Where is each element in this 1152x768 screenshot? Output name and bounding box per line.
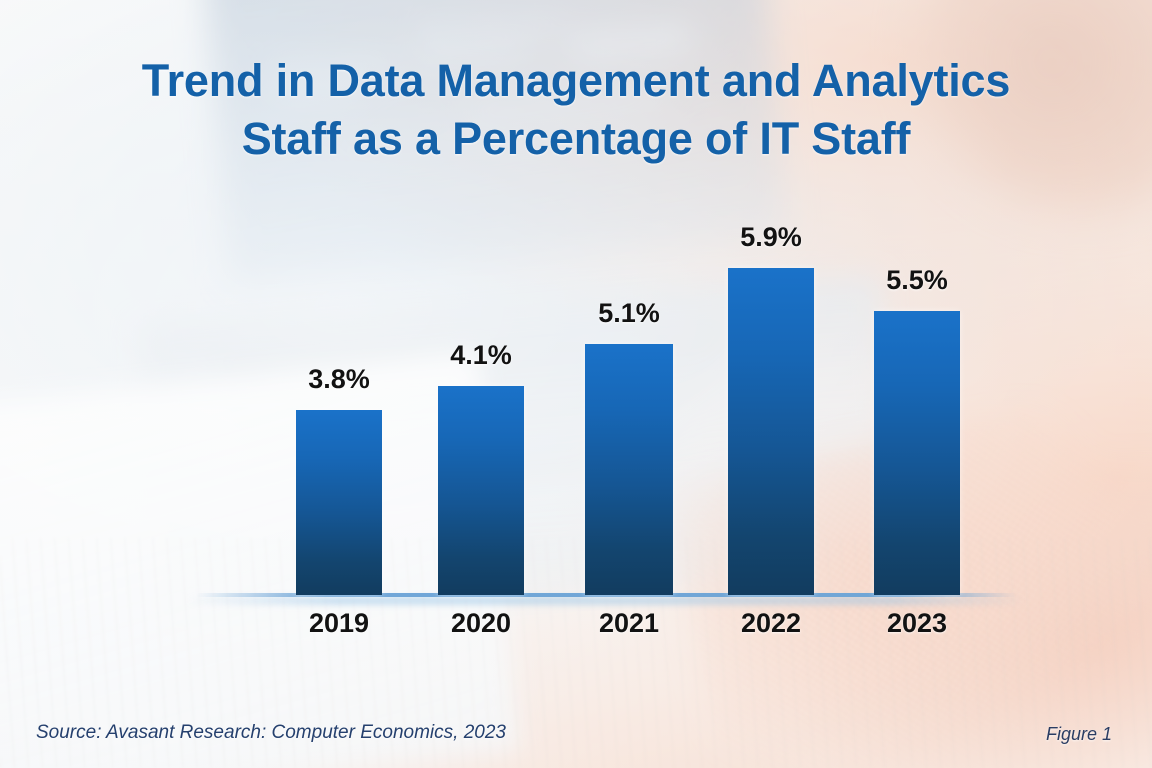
category-label-2022: 2022 bbox=[718, 608, 824, 639]
bar-2019[interactable] bbox=[296, 410, 382, 595]
axis-glow bbox=[186, 596, 1026, 605]
category-label-2020: 2020 bbox=[428, 608, 534, 639]
category-label-2023: 2023 bbox=[864, 608, 970, 639]
bar-value-label-2022: 5.9% bbox=[728, 222, 814, 253]
bar-value-label-2023: 5.5% bbox=[874, 265, 960, 296]
bar-value-label-2021: 5.1% bbox=[585, 298, 673, 329]
bar-2021[interactable] bbox=[585, 344, 673, 595]
source-note: Source: Avasant Research: Computer Econo… bbox=[36, 722, 506, 744]
chart-title-line-2: Staff as a Percentage of IT Staff bbox=[0, 110, 1152, 168]
bar-value-label-2020: 4.1% bbox=[438, 340, 524, 371]
bar-2020[interactable] bbox=[438, 386, 524, 595]
chart-title-line-1: Trend in Data Management and Analytics bbox=[0, 52, 1152, 110]
bar-2022[interactable] bbox=[728, 268, 814, 595]
category-label-2019: 2019 bbox=[286, 608, 392, 639]
figure-number: Figure 1 bbox=[1046, 724, 1112, 745]
category-label-2021: 2021 bbox=[575, 608, 683, 639]
figure-canvas: Trend in Data Management and Analytics S… bbox=[0, 0, 1152, 768]
chart-title: Trend in Data Management and Analytics S… bbox=[0, 52, 1152, 167]
bar-value-label-2019: 3.8% bbox=[296, 364, 382, 395]
bar-2023[interactable] bbox=[874, 311, 960, 595]
